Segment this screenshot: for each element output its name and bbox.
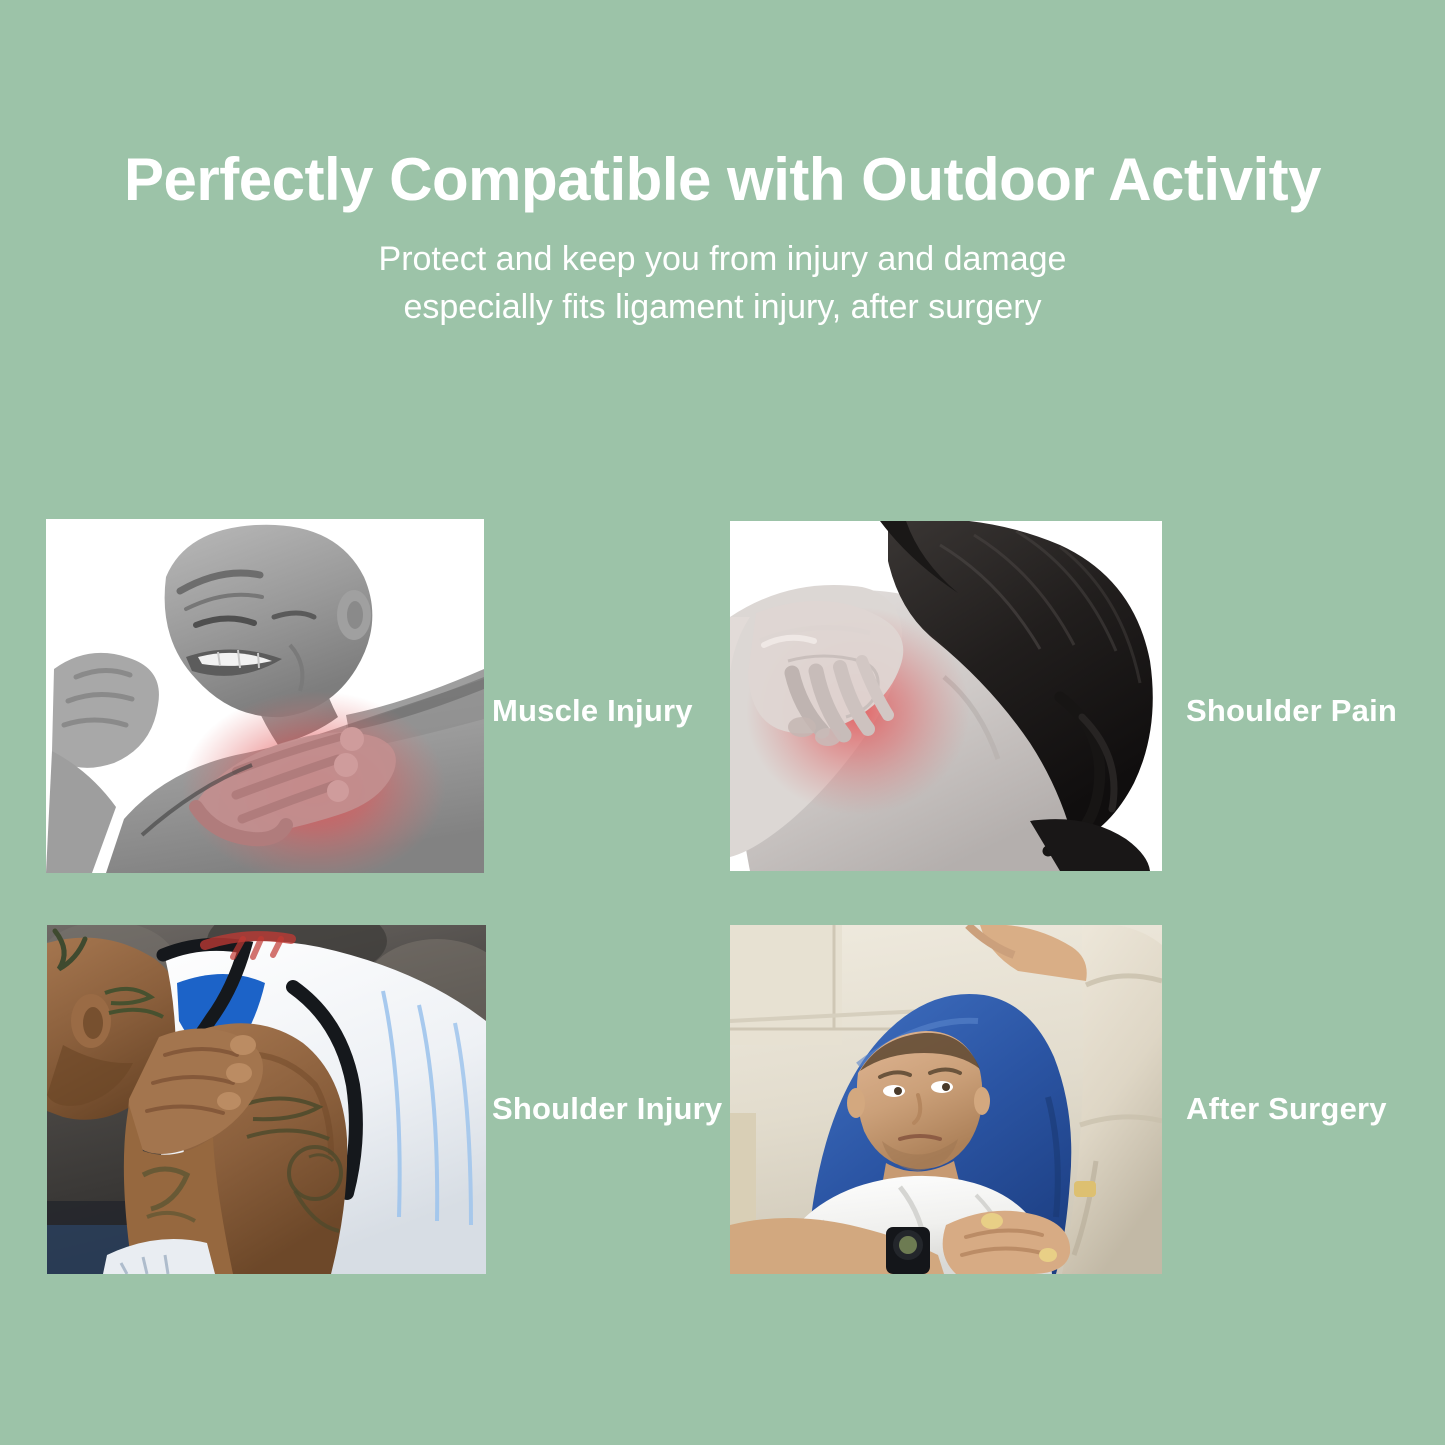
caption-shoulder-injury: Shoulder Injury	[492, 1091, 722, 1127]
patient-in-hospital-bed-photo	[730, 925, 1162, 1274]
page-title: Perfectly Compatible with Outdoor Activi…	[0, 148, 1445, 211]
photo-card-after-surgery	[730, 925, 1162, 1274]
photo-card-shoulder-pain	[730, 521, 1162, 871]
woman-holding-painful-neck-photo	[730, 521, 1162, 871]
caption-after-surgery: After Surgery	[1186, 1091, 1387, 1127]
subtitle-line-1: Protect and keep you from injury and dam…	[0, 235, 1445, 283]
photo-card-shoulder-injury	[47, 925, 486, 1274]
photo-card-muscle-injury	[46, 519, 484, 873]
basketball-player-holding-shoulder-photo	[47, 925, 486, 1274]
caption-muscle-injury: Muscle Injury	[492, 693, 693, 729]
product-feature-poster: Perfectly Compatible with Outdoor Activi…	[0, 0, 1445, 1445]
caption-shoulder-pain: Shoulder Pain	[1186, 693, 1397, 729]
subtitle: Protect and keep you from injury and dam…	[0, 211, 1445, 332]
man-holding-painful-shoulder-photo	[46, 519, 484, 873]
subtitle-line-2: especially fits ligament injury, after s…	[0, 283, 1445, 331]
header: Perfectly Compatible with Outdoor Activi…	[0, 148, 1445, 332]
